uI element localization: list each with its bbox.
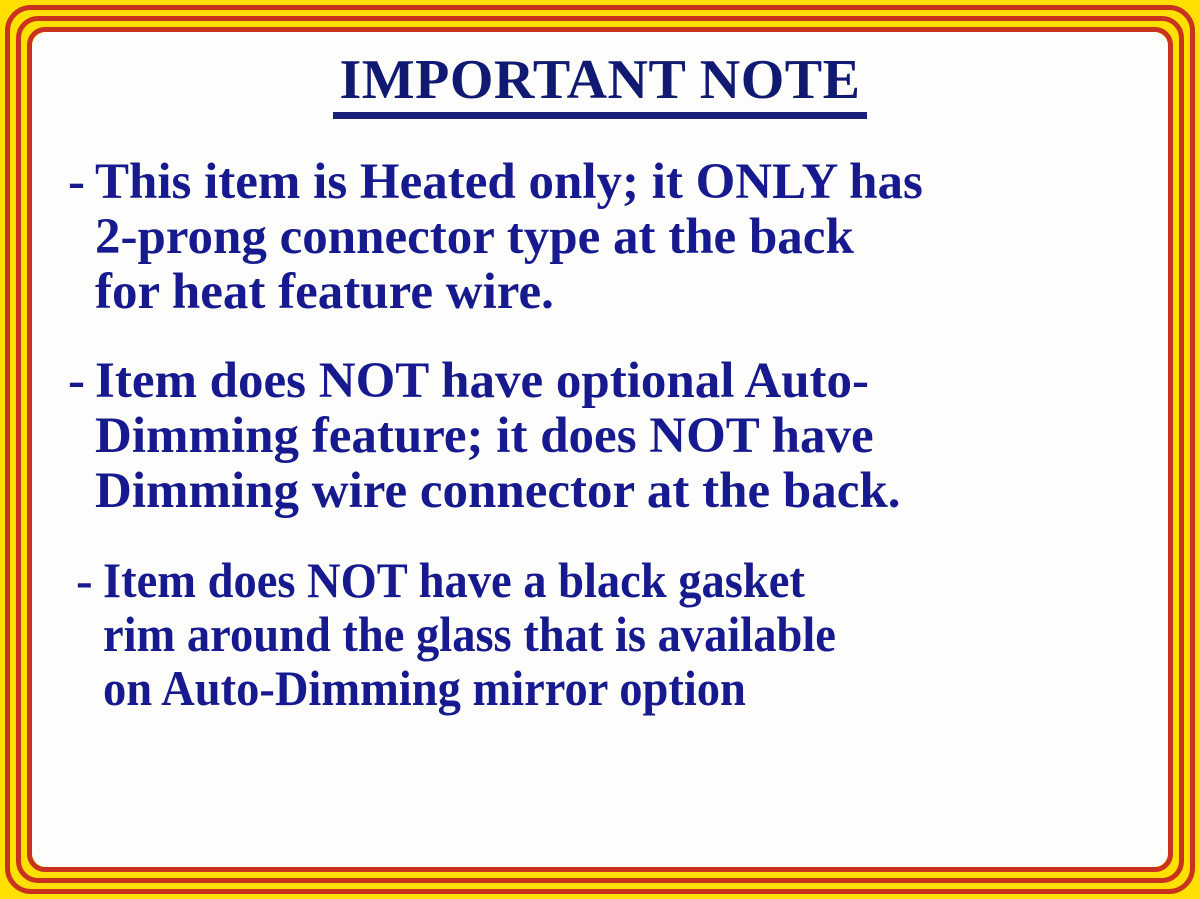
bullet-marker-icon: - bbox=[76, 553, 103, 607]
list-item: - This item is Heated only; it ONLY has … bbox=[34, 155, 1166, 320]
list-item: - Item does NOT have a black gasket rim … bbox=[34, 553, 1166, 715]
list-item: - Item does NOT have optional Auto- Dimm… bbox=[34, 354, 1166, 519]
bullet-text-no-auto-dimming: Item does NOT have optional Auto- Dimmin… bbox=[95, 354, 1166, 519]
note-card: IMPORTANT NOTE - This item is Heated onl… bbox=[0, 0, 1200, 899]
page-title-text: IMPORTANT NOTE bbox=[333, 52, 866, 119]
bullet-marker-icon: - bbox=[68, 354, 95, 409]
note-content: IMPORTANT NOTE - This item is Heated onl… bbox=[34, 34, 1166, 865]
bullet-marker-icon: - bbox=[68, 155, 95, 210]
note-bullet-list: - This item is Heated only; it ONLY has … bbox=[34, 155, 1166, 715]
bullet-text-no-black-gasket: Item does NOT have a black gasket rim ar… bbox=[103, 553, 1092, 715]
page-title: IMPORTANT NOTE bbox=[34, 52, 1166, 125]
bullet-text-heated-only: This item is Heated only; it ONLY has 2-… bbox=[95, 155, 1166, 320]
